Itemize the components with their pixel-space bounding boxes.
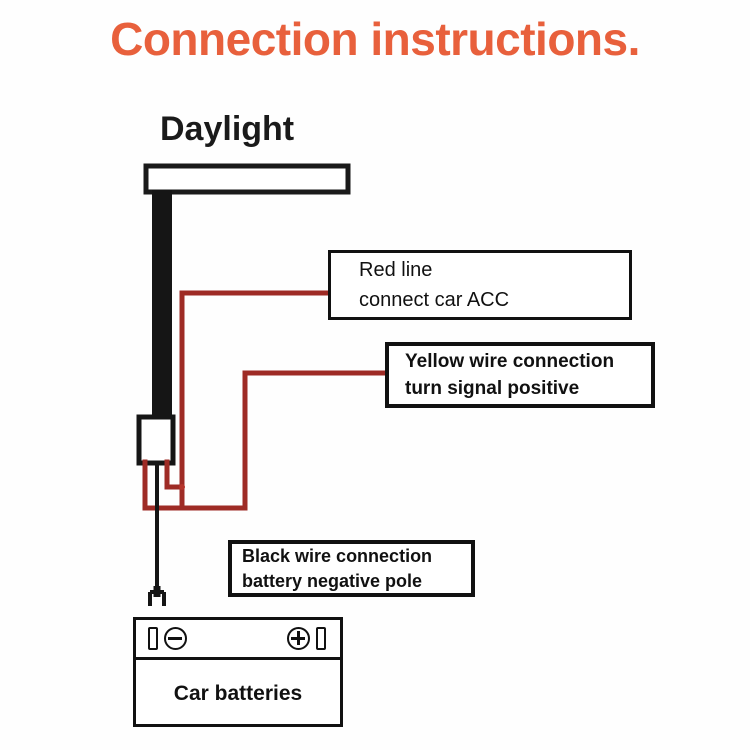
driver-connector-box [139, 417, 173, 463]
battery-cap-left [148, 627, 158, 650]
callout-black-line-1: Black wire connection [242, 544, 471, 569]
battery-cap-right [316, 627, 326, 650]
main-cable [152, 190, 172, 420]
callout-black-line-2: battery negative pole [242, 569, 471, 594]
battery-negative-terminal-icon [164, 627, 187, 650]
minus-bar [168, 637, 182, 640]
car-battery: Car batteries [133, 617, 343, 727]
red-wire-acc [182, 293, 328, 508]
callout-red-line-1: Red line [359, 255, 629, 285]
daylight-bar-icon [146, 166, 348, 192]
battery-body: Car batteries [136, 660, 340, 727]
red-wire-turnsignal [245, 373, 385, 508]
callout-black-wire: Black wire connection battery negative p… [228, 540, 475, 597]
plus-bar-vertical [297, 631, 300, 645]
callout-red-line: Red line connect car ACC [328, 250, 632, 320]
battery-terminal-strip [136, 620, 340, 660]
diagram-canvas: Connection instructions. Daylight Red li… [0, 0, 750, 750]
red-wire-lower-run-a [145, 462, 245, 508]
battery-positive-terminal-icon [287, 627, 310, 650]
wire-junction-dot [179, 484, 185, 490]
callout-yellow-wire: Yellow wire connection turn signal posit… [385, 342, 655, 408]
callout-yellow-line-2: turn signal positive [405, 375, 651, 402]
callout-red-line-2: connect car ACC [359, 285, 629, 315]
callout-yellow-line-1: Yellow wire connection [405, 348, 651, 375]
battery-label: Car batteries [174, 682, 302, 706]
